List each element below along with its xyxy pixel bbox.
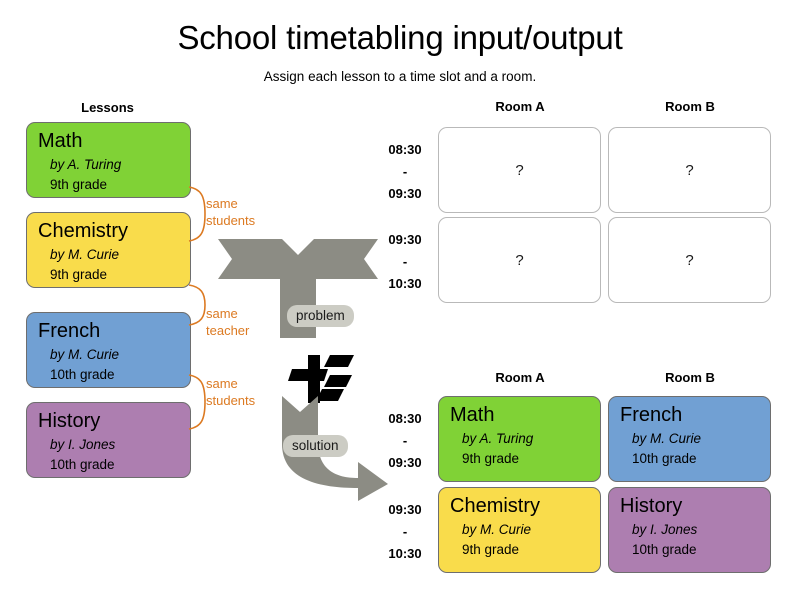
solution-timeslot-0: 08:30 - 09:30: [374, 408, 436, 474]
constraint-brace-icon: [188, 284, 208, 326]
solution-cell-lesson[interactable]: Math by A. Turing 9th grade: [438, 396, 601, 482]
timeslot-dash: -: [374, 161, 436, 183]
lesson-grade: 9th grade: [450, 540, 600, 560]
problem-cell-empty[interactable]: ?: [438, 127, 601, 213]
lesson-teacher: by I. Jones: [38, 434, 190, 455]
problem-cell-empty[interactable]: ?: [438, 217, 601, 303]
lesson-grade: 10th grade: [38, 455, 190, 475]
timeslot-end: 09:30: [374, 183, 436, 205]
problem-room-header-b: Room B: [605, 99, 775, 115]
lessons-heading: Lessons: [25, 100, 190, 116]
solution-timeslot-1: 09:30 - 10:30: [374, 499, 436, 565]
lesson-subject: Math: [38, 129, 190, 154]
problem-cell-empty[interactable]: ?: [608, 127, 771, 213]
page-title: School timetabling input/output: [0, 18, 800, 58]
timeslot-end: 09:30: [374, 452, 436, 474]
solution-badge: solution: [283, 435, 348, 457]
lesson-card-history: History by I. Jones 10th grade: [26, 402, 191, 478]
timeslot-start: 08:30: [374, 408, 436, 430]
lesson-grade: 10th grade: [620, 540, 770, 560]
page-subtitle: Assign each lesson to a time slot and a …: [0, 68, 800, 86]
lesson-teacher: by M. Curie: [38, 344, 190, 365]
constraint-line-1: same: [206, 375, 255, 392]
lesson-card-math: Math by A. Turing 9th grade: [26, 122, 191, 198]
timeslot-dash: -: [374, 521, 436, 543]
lesson-subject: Chemistry: [450, 494, 600, 519]
timeslot-end: 10:30: [374, 273, 436, 295]
lesson-subject: History: [620, 494, 770, 519]
timeslot-start: 09:30: [374, 229, 436, 251]
lesson-teacher: by A. Turing: [38, 154, 190, 175]
problem-cell-empty[interactable]: ?: [608, 217, 771, 303]
timeslot-dash: -: [374, 430, 436, 452]
constraint-brace-icon: [188, 374, 208, 430]
problem-timeslot-0: 08:30 - 09:30: [374, 139, 436, 205]
lesson-grade: 10th grade: [620, 449, 770, 469]
lesson-grade: 10th grade: [38, 365, 190, 385]
constraint-line-2: students: [206, 212, 255, 229]
constraint-line-1: same: [206, 195, 255, 212]
timeslot-end: 10:30: [374, 543, 436, 565]
lesson-card-chemistry: Chemistry by M. Curie 9th grade: [26, 212, 191, 288]
problem-badge: problem: [287, 305, 354, 327]
solution-cell-lesson[interactable]: French by M. Curie 10th grade: [608, 396, 771, 482]
solution-cell-lesson[interactable]: History by I. Jones 10th grade: [608, 487, 771, 573]
lesson-card-french: French by M. Curie 10th grade: [26, 312, 191, 388]
lesson-grade: 9th grade: [450, 449, 600, 469]
lesson-grade: 9th grade: [38, 175, 190, 195]
solution-room-header-a: Room A: [435, 370, 605, 386]
lesson-subject: Chemistry: [38, 219, 190, 244]
constraint-label-1: same students: [206, 195, 255, 229]
solution-room-header-b: Room B: [605, 370, 775, 386]
lesson-teacher: by M. Curie: [620, 428, 770, 449]
problem-timeslot-1: 09:30 - 10:30: [374, 229, 436, 295]
lesson-subject: French: [620, 403, 770, 428]
solution-cell-lesson[interactable]: Chemistry by M. Curie 9th grade: [438, 487, 601, 573]
lesson-teacher: by I. Jones: [620, 519, 770, 540]
lesson-teacher: by M. Curie: [450, 519, 600, 540]
timeslot-dash: -: [374, 251, 436, 273]
lesson-grade: 9th grade: [38, 265, 190, 285]
timeslot-start: 08:30: [374, 139, 436, 161]
lesson-subject: Math: [450, 403, 600, 428]
lesson-teacher: by A. Turing: [450, 428, 600, 449]
lesson-teacher: by M. Curie: [38, 244, 190, 265]
lesson-subject: History: [38, 409, 190, 434]
timeslot-start: 09:30: [374, 499, 436, 521]
problem-room-header-a: Room A: [435, 99, 605, 115]
diagram-canvas: School timetabling input/output Assign e…: [0, 0, 800, 600]
lesson-subject: French: [38, 319, 190, 344]
constraint-label-3: same students: [206, 375, 255, 409]
constraint-brace-icon: [188, 186, 208, 242]
constraint-line-2: students: [206, 392, 255, 409]
